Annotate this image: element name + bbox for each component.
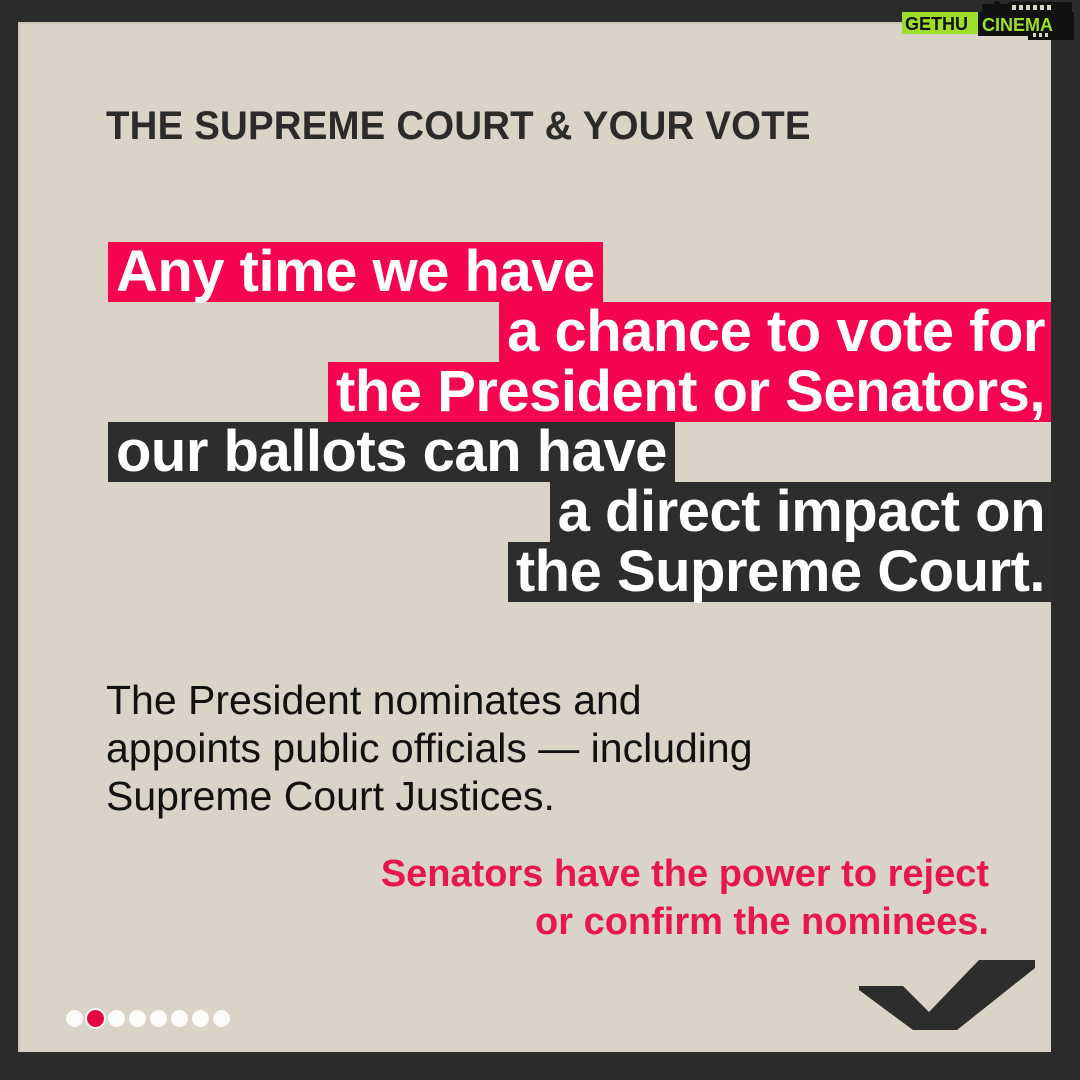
carousel-dot-1[interactable] <box>66 1010 83 1027</box>
body-paragraph: The President nominates and appoints pub… <box>106 676 986 820</box>
carousel-dot-8[interactable] <box>213 1010 230 1027</box>
quote-line: a direct impact on <box>20 482 1051 542</box>
subnote-paragraph: Senators have the power to reject or con… <box>129 850 989 946</box>
body-line: appoints public officials — including <box>106 724 986 772</box>
carousel-dots[interactable] <box>66 1010 230 1027</box>
carousel-dot-2[interactable] <box>87 1010 104 1027</box>
quote-line: Any time we have <box>20 242 1051 302</box>
quote-line: the President or Senators, <box>20 362 1051 422</box>
quote-line: a chance to vote for <box>20 302 1051 362</box>
carousel-dot-5[interactable] <box>150 1010 167 1027</box>
quote-line-text: a direct impact on <box>550 482 1051 542</box>
post-card: THE SUPREME COURT & YOUR VOTE Any time w… <box>18 22 1051 1052</box>
checkmark-logo <box>857 956 1037 1034</box>
carousel-dot-3[interactable] <box>108 1010 125 1027</box>
quote-line-text: Any time we have <box>108 242 603 302</box>
subnote-line: Senators have the power to reject <box>129 850 989 898</box>
quote-line: the Supreme Court. <box>20 542 1051 602</box>
quote-line-text: our ballots can have <box>108 422 675 482</box>
quote-line-text: a chance to vote for <box>499 302 1051 362</box>
quote-line-text: the President or Senators, <box>328 362 1051 422</box>
quote-block: Any time we have a chance to vote for th… <box>20 242 1051 602</box>
screenshot-root: THE SUPREME COURT & YOUR VOTE Any time w… <box>0 0 1080 1080</box>
carousel-dot-7[interactable] <box>192 1010 209 1027</box>
carousel-dot-6[interactable] <box>171 1010 188 1027</box>
page-title: THE SUPREME COURT & YOUR VOTE <box>106 104 811 149</box>
body-line: The President nominates and <box>106 676 986 724</box>
quote-line: our ballots can have <box>20 422 1051 482</box>
quote-line-text: the Supreme Court. <box>508 542 1051 602</box>
subnote-line: or confirm the nominees. <box>129 898 989 946</box>
body-line: Supreme Court Justices. <box>106 772 986 820</box>
carousel-dot-4[interactable] <box>129 1010 146 1027</box>
